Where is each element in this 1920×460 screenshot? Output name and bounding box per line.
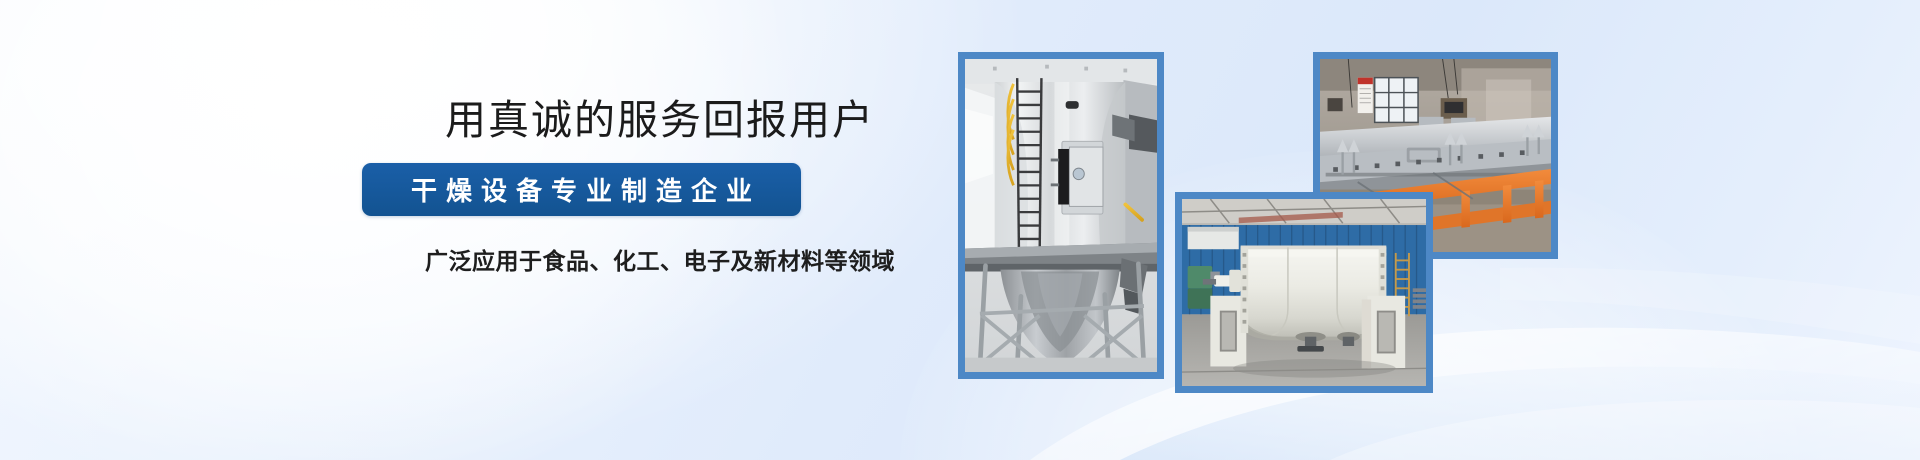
photo-ribbon-mixer [1175, 192, 1433, 393]
photo-spray-dryer-tower [958, 52, 1164, 379]
banner-slogan-text: 干燥设备专业制造企业 [402, 171, 761, 208]
photo-spray-dryer-tower-image [965, 59, 1157, 372]
banner-subtitle: 广泛应用于食品、化工、电子及新材料等领域 [306, 242, 966, 276]
banner-slogan-pill: 干燥设备专业制造企业 [362, 163, 801, 216]
photo-ribbon-mixer-image [1182, 199, 1426, 386]
banner-headline: 用真诚的服务回报用户 [306, 100, 966, 141]
banner-text-block: 用真诚的服务回报用户 干燥设备专业制造企业 广泛应用于食品、化工、电子及新材料等… [306, 100, 966, 276]
hero-banner: 用真诚的服务回报用户 干燥设备专业制造企业 广泛应用于食品、化工、电子及新材料等… [0, 0, 1920, 460]
banner-pill-wrapper: 干燥设备专业制造企业 [306, 163, 966, 216]
